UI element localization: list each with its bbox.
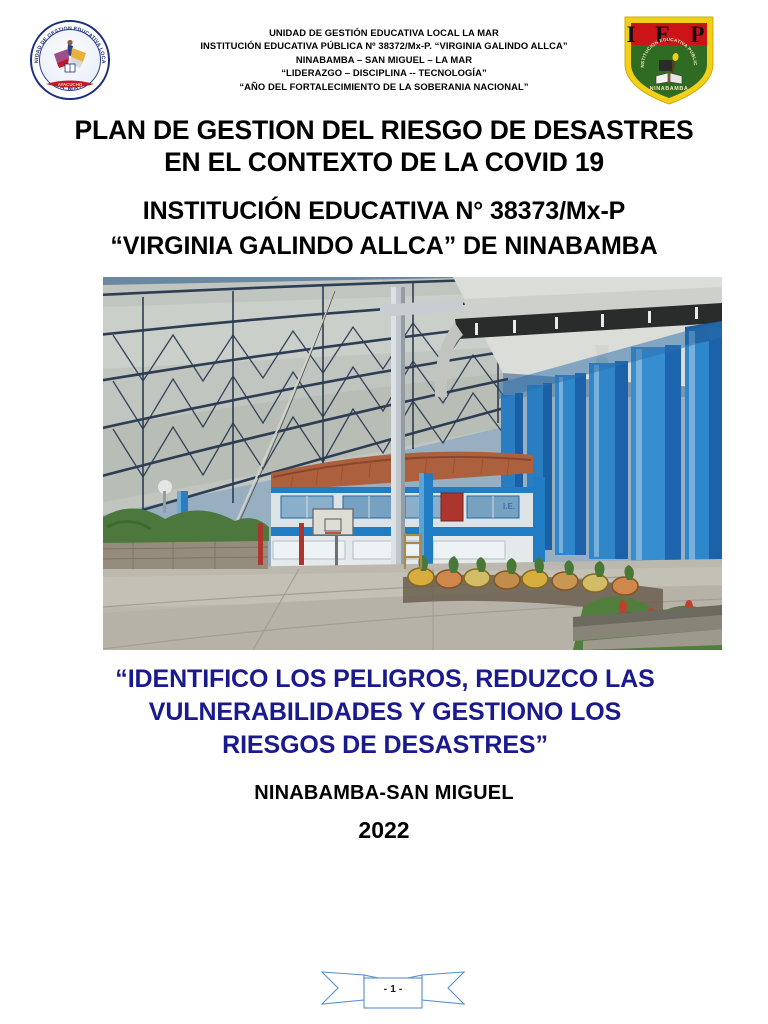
page-title: PLAN DE GESTION DEL RIESGO DE DESASTRES … <box>64 114 704 178</box>
ribbon-artwork <box>320 960 466 1012</box>
page-subtitle-line-2: “VIRGINIA GALINDO ALLCA” DE NINABAMBA <box>64 229 704 264</box>
ugel-la-mar-seal-icon: UNIDAD DE GESTION EDUCATIVA LOCAL LA MAR… <box>26 16 114 104</box>
slogan-line-3: RIESGOS DE DESASTRES” <box>100 729 670 762</box>
document-header: UNIDAD DE GESTION EDUCATIVA LOCAL LA MAR… <box>0 0 768 112</box>
shield-bottom-label: NINABAMBA <box>650 86 689 92</box>
header-line-5: “AÑO DEL FORTALECIMIENTO DE LA SOBERANIA… <box>134 80 634 93</box>
page-number-ribbon: - 1 - <box>320 960 466 1012</box>
location-text: NINABAMBA-SAN MIGUEL <box>104 782 664 805</box>
slogan-line-1: “IDENTIFICO LOS PELIGROS, REDUZCO LAS <box>100 663 670 696</box>
seal-artwork: UNIDAD DE GESTION EDUCATIVA LOCAL LA MAR… <box>26 16 114 104</box>
header-institution-text: UNIDAD DE GESTIÓN EDUCATIVA LOCAL LA MAR… <box>134 26 634 93</box>
header-line-3: NINABAMBA – SAN MIGUEL – LA MAR <box>134 53 634 66</box>
cover-photo-artwork: I.E. <box>103 277 722 650</box>
year-text: 2022 <box>104 817 664 844</box>
shield-artwork: I E P INSTITUCION EDUCATIVA PUBLICA NINA… <box>620 14 718 106</box>
cover-photo: I.E. <box>103 277 722 650</box>
page-subtitle: INSTITUCIÓN EDUCATIVA N° 38373/Mx-P “VIR… <box>64 194 704 264</box>
slogan-line-2: VULNERABILIDADES Y GESTIONO LOS <box>100 696 670 729</box>
header-line-4: “LIDERAZGO – DISCIPLINA -- TECNOLOGÍA” <box>134 66 634 79</box>
page-title-line-2: EN EL CONTEXTO DE LA COVID 19 <box>64 146 704 178</box>
page-subtitle-line-1: INSTITUCIÓN EDUCATIVA N° 38373/Mx-P <box>64 194 704 229</box>
header-line-2: INSTITUCIÓN EDUCATIVA PÚBLICA Nº 38372/M… <box>134 39 634 52</box>
slogan-text: “IDENTIFICO LOS PELIGROS, REDUZCO LAS VU… <box>100 663 670 762</box>
iep-ninabamba-shield-icon: I E P INSTITUCION EDUCATIVA PUBLICA NINA… <box>620 14 718 106</box>
svg-text:AYACUCHO: AYACUCHO <box>58 82 83 87</box>
shield-band-label: I E P <box>627 22 712 47</box>
header-line-1: UNIDAD DE GESTIÓN EDUCATIVA LOCAL LA MAR <box>134 26 634 39</box>
page-title-line-1: PLAN DE GESTION DEL RIESGO DE DESASTRES <box>64 114 704 146</box>
